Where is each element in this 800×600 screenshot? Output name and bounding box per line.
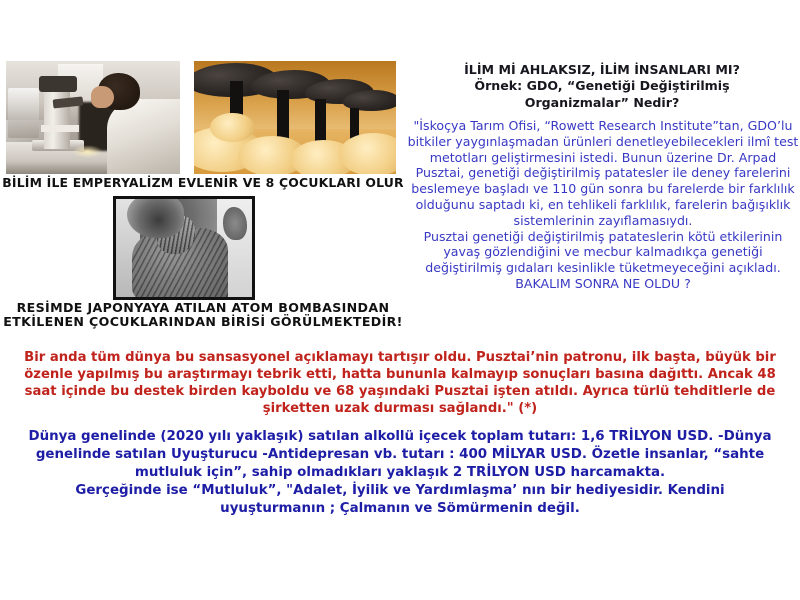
- bw-arm-shape: [223, 207, 246, 240]
- lab-light-glare-shape: [72, 145, 103, 159]
- microscope-stage-shape: [41, 125, 79, 132]
- red-paragraph: Bir anda tüm dünya bu sansasyonel açıkla…: [24, 350, 776, 416]
- blue-paragraph-1: "İskoçya Tarım Ofisi, “Rowett Research I…: [406, 118, 800, 229]
- photo-caption-atomic-bomb: RESİMDE JAPONYAYA ATILAN ATOM BOMBASINDA…: [0, 301, 406, 329]
- scientist-microscope-photo: [6, 61, 180, 174]
- atomic-bomb-victim-photo: [113, 196, 255, 300]
- scientist-face-shape: [91, 86, 114, 109]
- heading-line-2: Örnek: GDO, “Genetiği Değiştirilmiş: [404, 78, 800, 94]
- red-paragraph-block: Bir anda tüm dünya bu sansasyonel açıkla…: [8, 349, 792, 418]
- presentation-slide: BİLİM İLE EMPERYALİZM EVLENİR VE 8 ÇOCUK…: [0, 0, 800, 600]
- bw-photo-inner: [116, 199, 252, 297]
- navy-paragraph-block: Dünya genelinde (2020 yılı yaklaşık) sat…: [28, 428, 772, 518]
- photo-caption-science-imperialism: BİLİM İLE EMPERYALİZM EVLENİR VE 8 ÇOCUK…: [0, 176, 406, 190]
- steam-cloud-shape: [339, 133, 396, 174]
- scientist-body-shape: [107, 99, 180, 174]
- blue-paragraph-2: Pusztai genetiği değiştirilmiş patatesle…: [406, 229, 800, 276]
- blue-paragraph-3: BAKALIM SONRA NE OLDU ?: [406, 276, 800, 292]
- blue-quote-block: "İskoçya Tarım Ofisi, “Rowett Research I…: [406, 118, 800, 292]
- smokestacks-pollution-photo: [194, 61, 396, 174]
- navy-paragraph-2: Gerçeğinde ise “Mutluluk”, "Adalet, İyil…: [28, 482, 772, 518]
- steam-cloud-shape: [210, 113, 254, 142]
- text-column: İLİM Mİ AHLAKSIZ, İLİM İNSANLARI MI? Örn…: [404, 0, 800, 345]
- microscope-eyepiece-shape: [39, 76, 77, 92]
- slide-heading: İLİM Mİ AHLAKSIZ, İLİM İNSANLARI MI? Örn…: [404, 62, 800, 111]
- top-photo-row: [6, 61, 396, 174]
- lab-equipment-shape: [8, 88, 39, 138]
- navy-paragraph-1: Dünya genelinde (2020 yılı yaklaşık) sat…: [28, 429, 771, 480]
- microscope-body-shape: [44, 84, 70, 150]
- media-column: BİLİM İLE EMPERYALİZM EVLENİR VE 8 ÇOCUK…: [0, 0, 410, 345]
- heading-line-3: Organizmalar” Nedir?: [404, 95, 800, 111]
- heading-line-1: İLİM Mİ AHLAKSIZ, İLİM İNSANLARI MI?: [404, 62, 800, 78]
